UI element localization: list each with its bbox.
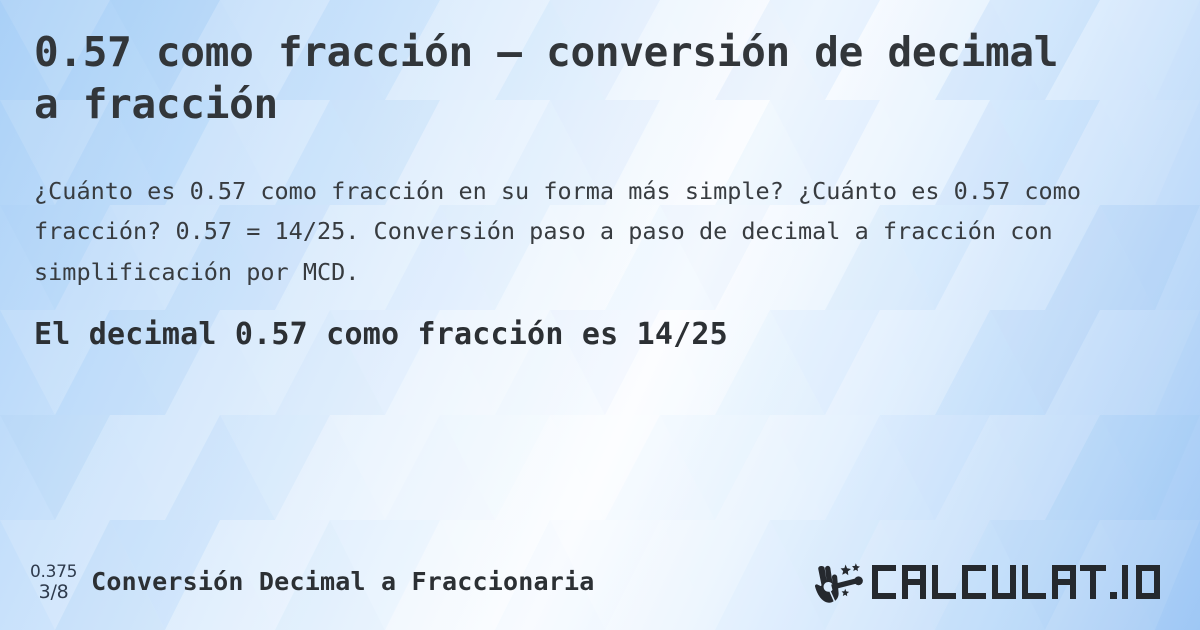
og-card: 0.57 como fracción – conversión de decim… xyxy=(0,0,1200,630)
answer-headline: El decimal 0.57 como fracción es 14/25 xyxy=(34,317,1166,352)
badge-decimal-example: 0.375 xyxy=(30,563,77,582)
page-description: ¿Cuánto es 0.57 como fracción en su form… xyxy=(34,171,1124,292)
page-title: 0.57 como fracción – conversión de decim… xyxy=(34,26,1094,131)
footer-bar: 0.375 3/8 Conversión Decimal a Fracciona… xyxy=(0,534,1200,630)
badge-fraction-example: 3/8 xyxy=(39,582,69,603)
brand-logo[interactable] xyxy=(812,558,1178,606)
footer-category-title: Conversión Decimal a Fraccionaria xyxy=(91,567,594,596)
hand-magic-wand-icon xyxy=(812,558,868,606)
brand-wordmark xyxy=(870,559,1170,605)
footer-left-group: 0.375 3/8 Conversión Decimal a Fracciona… xyxy=(30,561,594,603)
fraction-example-badge: 0.375 3/8 xyxy=(30,561,77,603)
